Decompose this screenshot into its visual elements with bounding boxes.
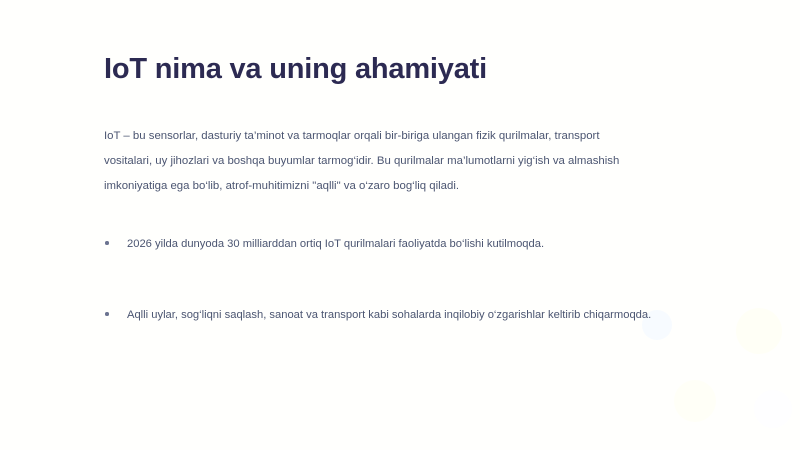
background-tint-blob (674, 380, 716, 422)
bullet-list: 2026 yilda dunyoda 30 milliarddan ortiq … (104, 232, 682, 327)
slide-title: IoT nima va uning ahamiyati (104, 52, 704, 87)
list-item: Aqlli uylar, sog‘liqni saqlash, sanoat v… (104, 303, 682, 327)
list-item-label: 2026 yilda dunyoda 30 milliarddan ortiq … (127, 238, 544, 250)
bullet-dot-icon (105, 241, 109, 245)
background-tint-blob (754, 390, 792, 428)
slide-content: IoT nima va uning ahamiyati IoT – bu sen… (104, 52, 704, 87)
bullet-dot-icon (105, 312, 109, 316)
list-item: 2026 yilda dunyoda 30 milliarddan ortiq … (104, 232, 682, 256)
list-item-label: Aqlli uylar, sog‘liqni saqlash, sanoat v… (127, 309, 651, 321)
intro-paragraph: IoT – bu sensorlar, dasturiy ta’minot va… (104, 124, 649, 199)
background-tint-blob (736, 308, 782, 354)
slide-canvas: IoT nima va uning ahamiyati IoT – bu sen… (0, 0, 800, 450)
